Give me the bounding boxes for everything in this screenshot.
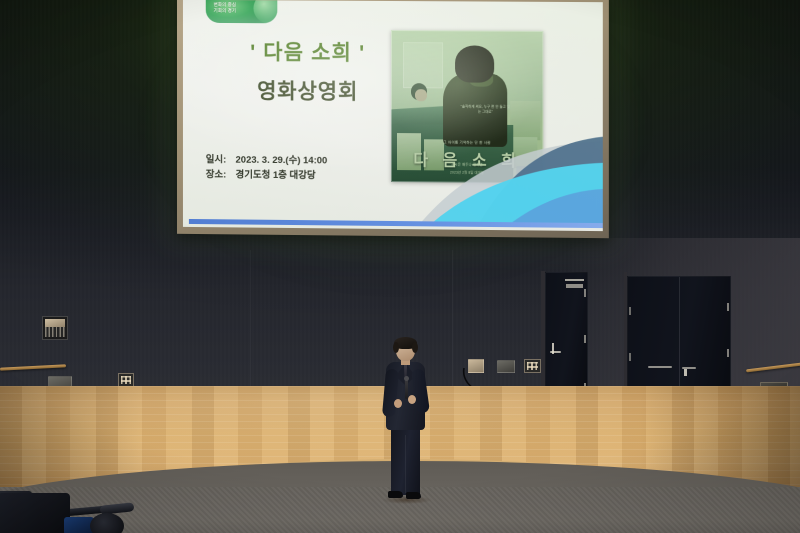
panel-grid (121, 376, 131, 384)
presenter-hand-right (408, 395, 416, 404)
event-venue-label: 장소: (206, 167, 230, 182)
equipment-rack (42, 316, 68, 340)
door-hinge (727, 349, 729, 357)
presenter-leg-seam (405, 435, 406, 493)
door-hinge (629, 353, 631, 361)
presenter-hair-side-left (393, 342, 399, 353)
rack-controls (45, 327, 65, 337)
double-exit-door[interactable] (627, 276, 731, 403)
presenter-shoe-right (406, 492, 421, 499)
door-hinge (629, 307, 631, 315)
camera-body (0, 493, 70, 533)
presenter-on-stage (378, 339, 432, 511)
event-date-label: 일시: (206, 152, 230, 167)
door-sign (566, 284, 583, 288)
event-date-row: 일시: 2023. 3. 29.(수) 14:00 (206, 152, 328, 168)
slide-title-line-2: 영화상영회 (201, 75, 415, 107)
door-push-bar[interactable] (648, 366, 672, 368)
microphone-icon (405, 379, 408, 399)
door-placard (565, 279, 584, 281)
wall-control-panel (524, 359, 541, 373)
wall-control-panel (118, 373, 134, 387)
panel-grid (527, 362, 538, 370)
projection-screen: 변화의 중심 기회의 경기 ' 다음 소희 ' 영화상영회 일시: 2023. … (177, 0, 609, 238)
door-latch (684, 369, 687, 376)
presentation-slide: 변화의 중심 기회의 경기 ' 다음 소희 ' 영화상영회 일시: 2023. … (183, 0, 603, 231)
gyeonggi-province-logo-icon: 변화의 중심 기회의 경기 (206, 0, 278, 23)
door-handle[interactable] (550, 351, 561, 353)
door-hinge (584, 289, 586, 297)
camera-pan-wheel[interactable] (90, 513, 124, 533)
door-hinge (727, 303, 729, 311)
slide-title-line-1: ' 다음 소희 ' (201, 36, 415, 67)
logo-line-2: 기회의 경기 (214, 8, 270, 15)
presenter-shoe-left (388, 491, 403, 498)
event-venue-row: 장소: 경기도청 1층 대강당 (206, 167, 328, 183)
slide-wave-decoration (362, 135, 603, 223)
door-hinge (584, 335, 586, 343)
presenter-hair-side-right (412, 342, 418, 353)
microphone-head (404, 376, 409, 381)
event-date-value: 2023. 3. 29.(수) 14:00 (236, 153, 328, 169)
broadcast-camera-rig (0, 479, 142, 533)
presenter-hand-left (394, 399, 402, 408)
slide-title: ' 다음 소희 ' 영화상영회 (201, 36, 415, 106)
single-exit-door[interactable] (545, 272, 588, 403)
auditorium-scene: 변화의 중심 기회의 경기 ' 다음 소희 ' 영화상영회 일시: 2023. … (0, 0, 800, 533)
event-venue-value: 경기도청 1층 대강당 (236, 168, 316, 184)
door-meeting-stile (679, 277, 680, 402)
slide-event-details: 일시: 2023. 3. 29.(수) 14:00 장소: 경기도청 1층 대강… (206, 152, 328, 183)
